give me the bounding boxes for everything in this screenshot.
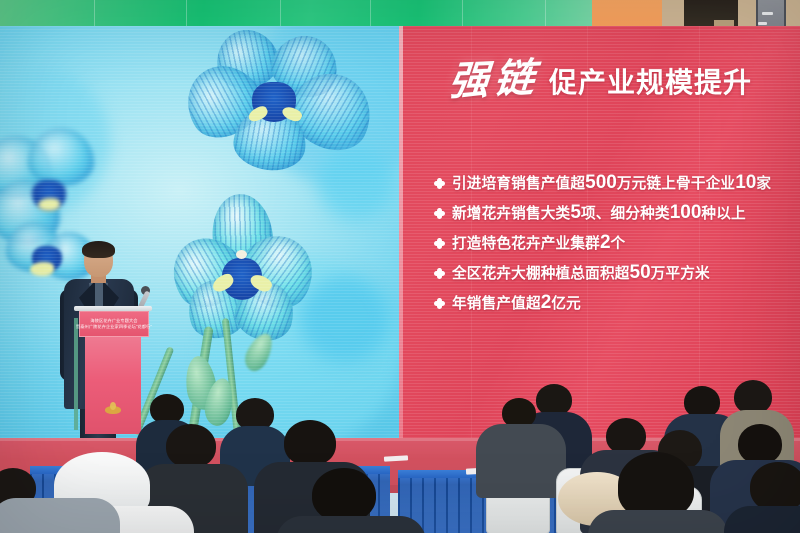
- bullet-text: 全区花卉大棚种植总面积超50万平方米: [452, 262, 710, 284]
- speaker-hair: [82, 241, 115, 258]
- orchid-bokeh: [318, 146, 394, 220]
- orchid-bokeh: [300, 276, 390, 362]
- bullet-row: 打造特色花卉产业集群2个: [434, 228, 792, 258]
- bullet-text: 新增花卉销售大类5项、细分种类100种以上: [452, 202, 746, 224]
- podium-sign-line-2: 暨泰州广陵花卉企业家四季论坛"花都行": [76, 325, 152, 329]
- bullet-text: 年销售产值超2亿元: [452, 292, 581, 314]
- conference-photo: 强链 促产业规模提升 引进培育销售产值超500万元链上骨干企业10家 新增花卉销…: [0, 0, 800, 533]
- ceiling-light: [758, 22, 767, 25]
- bullet-text: 打造特色花卉产业集群2个: [452, 232, 625, 254]
- slide-bullet-list: 引进培育销售产值超500万元链上骨干企业10家 新增花卉销售大类5项、细分种类1…: [434, 168, 792, 318]
- flower-bullet-icon: [434, 268, 445, 279]
- ceiling-light: [762, 12, 773, 15]
- podium-body: [85, 335, 141, 434]
- bullet-row: 全区花卉大棚种植总面积超50万平方米: [434, 258, 792, 288]
- slide-title: 强链 促产业规模提升: [449, 60, 789, 100]
- flower-bullet-icon: [434, 208, 445, 219]
- podium-sign: 海陵区花卉广业专题大会 暨泰州广陵花卉企业家四季论坛"花都行": [79, 311, 149, 337]
- bullet-row: 年销售产值超2亿元: [434, 288, 792, 318]
- podium: 海陵区花卉广业专题大会 暨泰州广陵花卉企业家四季论坛"花都行": [77, 306, 149, 434]
- led-screen-left-orchids: [0, 26, 399, 438]
- bullet-row: 引进培育销售产值超500万元链上骨干企业10家: [434, 168, 792, 198]
- flower-bullet-icon: [434, 298, 445, 309]
- flower-bullet-icon: [434, 238, 445, 249]
- bullet-text: 引进培育销售产值超500万元链上骨干企业10家: [452, 172, 771, 194]
- screen-panel-seam: [399, 26, 403, 438]
- party-emblem-icon: [105, 402, 121, 416]
- slide-title-script: 强链: [447, 58, 541, 102]
- slide-title-bold: 促产业规模提升: [549, 69, 752, 100]
- flower-bullet-icon: [434, 178, 445, 189]
- bullet-row: 新增花卉销售大类5项、细分种类100种以上: [434, 198, 792, 228]
- podium-sign-line-1: 海陵区花卉广业专题大会: [90, 319, 137, 323]
